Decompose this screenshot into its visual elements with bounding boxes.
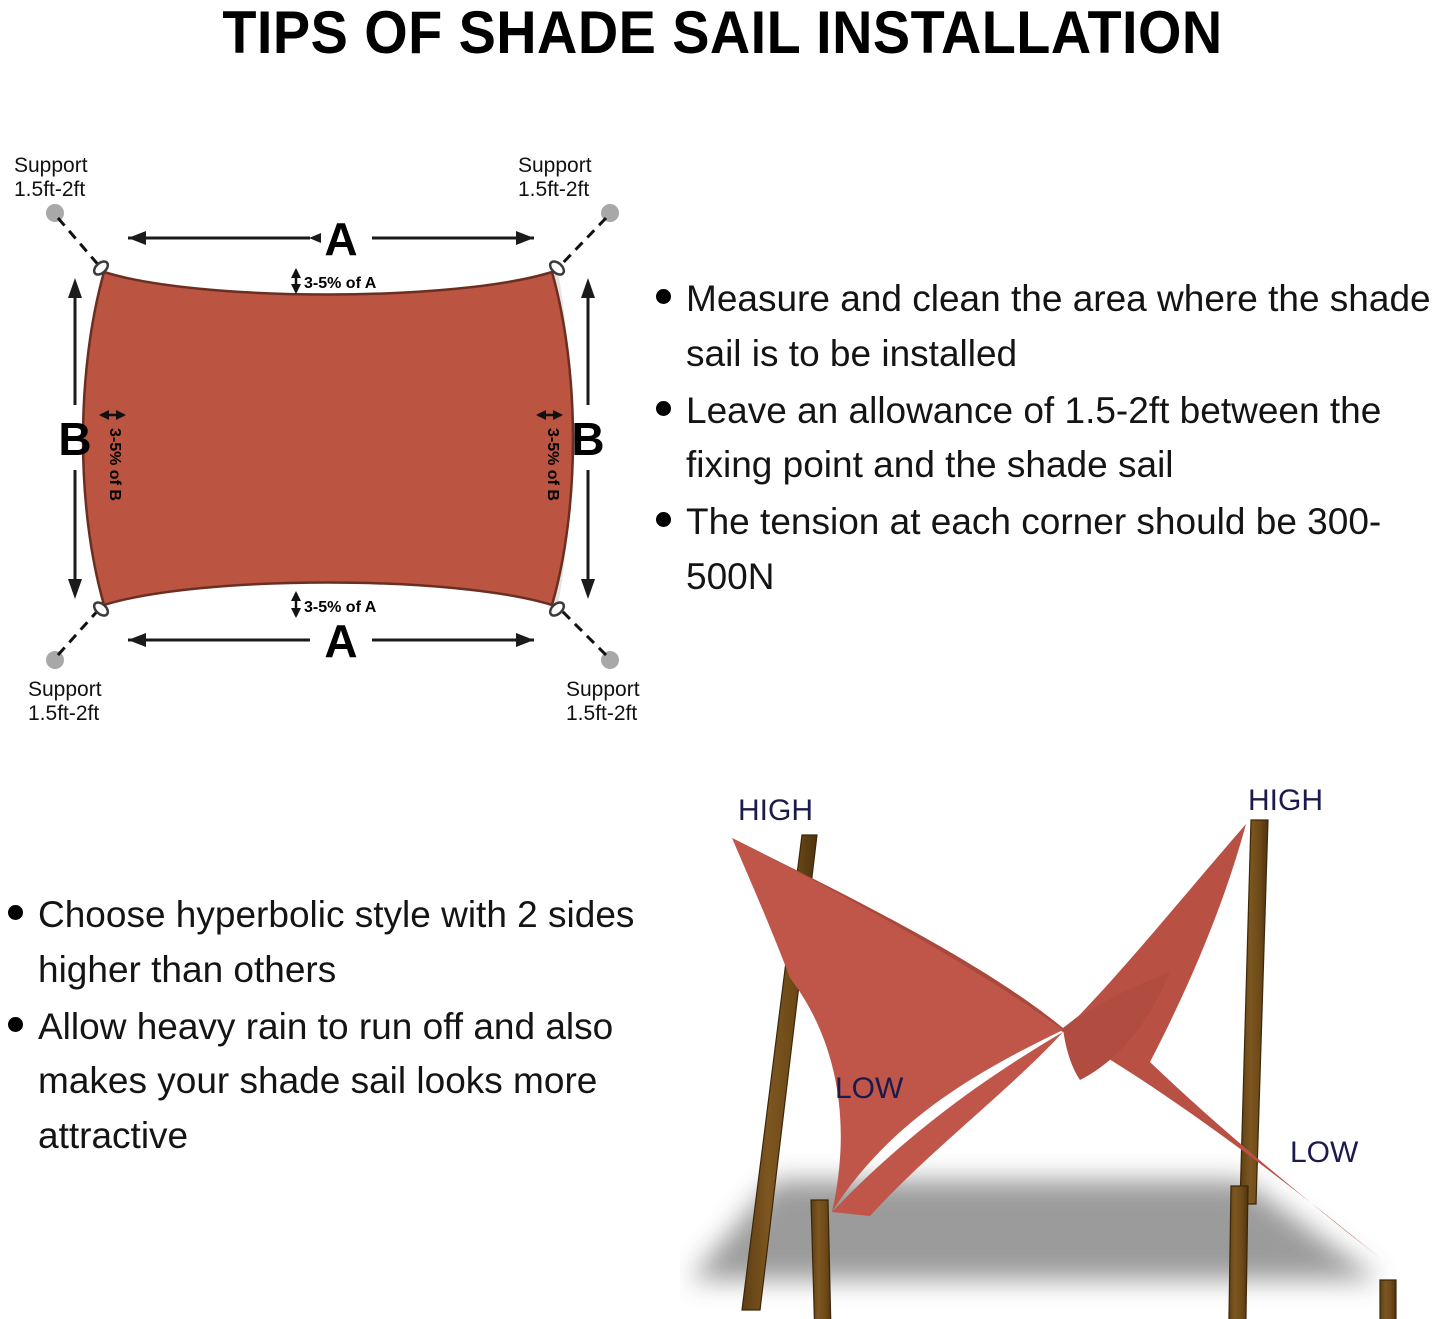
- installation-tips-list: Measure and clean the area where the sha…: [648, 272, 1445, 607]
- hyperbolic-sail-diagram: HIGH HIGH LOW LOW: [680, 780, 1445, 1319]
- ground-shadow: [690, 1180, 1380, 1280]
- shade-sail-shape: [83, 272, 573, 605]
- bullet-dot-icon: [8, 1017, 23, 1032]
- support-dot-bottom-left: [46, 651, 64, 669]
- post-low-right: [1380, 1280, 1396, 1319]
- curve-note-bottom-label: 3-5% of A: [304, 599, 377, 616]
- label-low-left: LOW: [835, 1072, 904, 1105]
- label-low-right: LOW: [1290, 1136, 1359, 1169]
- page-title: TIPS OF SHADE SAIL INSTALLATION: [51, 0, 1395, 66]
- rectangular-sail-svg: A 3-5% of A A 3-5% o: [0, 150, 660, 730]
- dimension-bottom-A: A: [128, 615, 534, 667]
- list-item-text: Measure and clean the area where the sha…: [686, 278, 1431, 374]
- list-item: Allow heavy rain to run off and also mak…: [0, 1000, 640, 1164]
- dimension-label-left-B: B: [58, 413, 91, 465]
- list-item: Choose hyperbolic style with 2 sides hig…: [0, 888, 640, 998]
- list-item-text: The tension at each corner should be 300…: [686, 501, 1381, 597]
- curve-note-top: 3-5% of A: [291, 268, 377, 294]
- list-item-text: Choose hyperbolic style with 2 sides hig…: [38, 894, 634, 990]
- bullet-dot-icon: [656, 401, 671, 416]
- support-label-top-left-line2: 1.5ft-2ft: [14, 178, 85, 201]
- infographic-page: TIPS OF SHADE SAIL INSTALLATION: [0, 0, 1445, 1319]
- curve-note-bottom: 3-5% of A: [291, 591, 377, 618]
- dimension-label-right-B: B: [571, 413, 604, 465]
- list-item: Measure and clean the area where the sha…: [648, 272, 1445, 382]
- label-high-right: HIGH: [1248, 784, 1323, 817]
- bullet-dot-icon: [8, 905, 23, 920]
- list-item: The tension at each corner should be 300…: [648, 495, 1445, 605]
- support-label-top-left-line1: Support: [14, 154, 88, 177]
- dimension-label-bottom-A: A: [324, 615, 357, 667]
- support-label-top-right-line2: 1.5ft-2ft: [518, 178, 589, 201]
- post-low-left: [811, 1200, 832, 1319]
- hyperbolic-sail-svg: HIGH HIGH LOW LOW: [680, 780, 1445, 1319]
- support-dot-top-left: [46, 204, 64, 222]
- support-label-bottom-right-line1: Support: [566, 678, 640, 701]
- rectangular-sail-diagram: A 3-5% of A A 3-5% o: [0, 150, 660, 730]
- curve-note-left-label: 3-5% of B: [106, 428, 123, 501]
- dimension-top-A: A: [128, 213, 534, 265]
- curve-note-right-label: 3-5% of B: [544, 428, 561, 501]
- list-item-text: Allow heavy rain to run off and also mak…: [38, 1006, 613, 1157]
- rigging-line-top-left: [58, 218, 101, 268]
- rigging-line-bottom-left: [58, 607, 101, 655]
- bullet-dot-icon: [656, 289, 671, 304]
- rigging-line-bottom-right: [558, 607, 606, 655]
- list-item-text: Leave an allowance of 1.5-2ft between th…: [686, 390, 1381, 486]
- label-high-left: HIGH: [738, 794, 813, 827]
- dimension-right-B: B: [571, 278, 604, 599]
- bullet-dot-icon: [656, 512, 671, 527]
- support-label-bottom-left-line1: Support: [28, 678, 102, 701]
- post-high-right: [1240, 820, 1268, 1204]
- rigging-line-top-right: [558, 218, 606, 268]
- dimension-left-B: B: [58, 278, 91, 599]
- support-label-bottom-left-line2: 1.5ft-2ft: [28, 702, 99, 725]
- post-low-right-rear: [1228, 1186, 1248, 1319]
- dimension-label-top-A: A: [324, 213, 357, 265]
- hyperbolic-style-tips-list: Choose hyperbolic style with 2 sides hig…: [0, 888, 640, 1166]
- support-label-bottom-right-line2: 1.5ft-2ft: [566, 702, 637, 725]
- support-label-top-right-line1: Support: [518, 154, 592, 177]
- list-item: Leave an allowance of 1.5-2ft between th…: [648, 384, 1445, 494]
- curve-note-top-label: 3-5% of A: [304, 275, 377, 292]
